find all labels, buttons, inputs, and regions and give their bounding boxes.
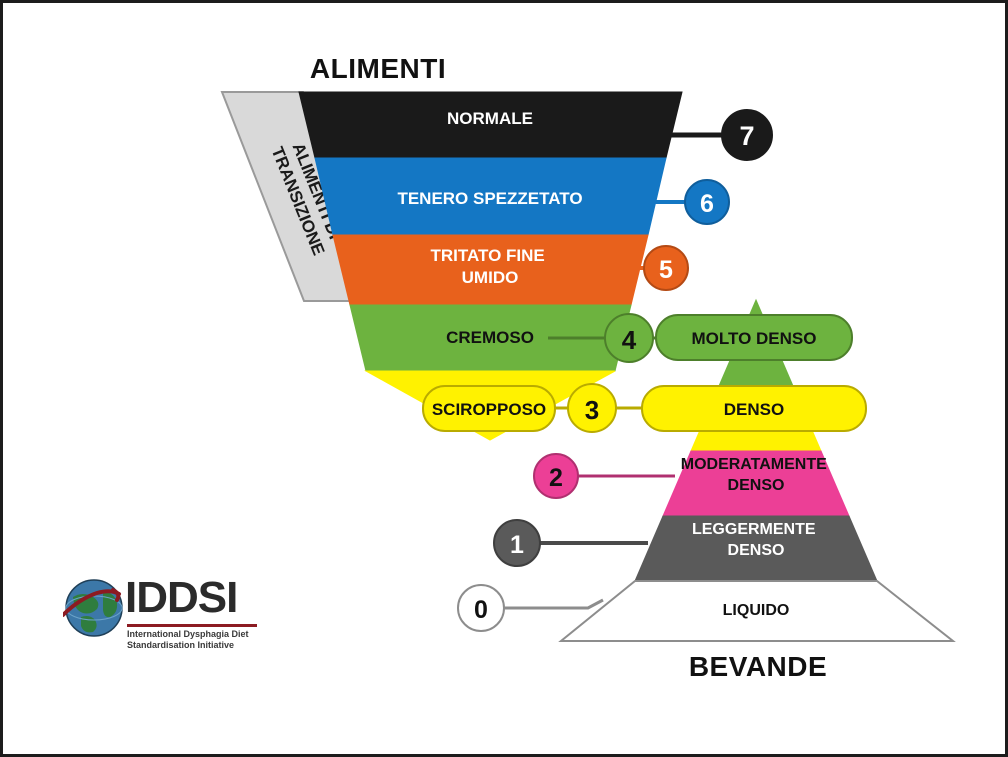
badge-level-5-number: 5 [659,256,673,284]
logo-tagline-line1: International Dysphagia Diet [127,629,277,640]
food-level-5-label-line2: UMIDO [462,268,519,287]
logo-divider [127,624,257,627]
badge-level-3[interactable]: 3 [568,384,616,432]
drink-level-3-label: DENSO [724,400,784,419]
badge-level-1-number: 1 [510,531,524,559]
badge-level-5[interactable]: 5 [644,246,688,290]
food-level-7-label: NORMALE [447,109,533,128]
iddsi-framework-diagram: ALIMENTI BEVANDE ALIMENTI DI TRANSIZIONE… [0,0,1008,757]
badge-level-0-number: 0 [474,596,488,624]
logo-wordmark: IDDSI [125,573,237,623]
badge-level-6-number: 6 [700,190,714,218]
food-level-6-label: TENERO SPEZZETATO [397,189,582,208]
badge-level-4[interactable]: 4 [605,314,653,362]
badge-level-1[interactable]: 1 [494,520,540,566]
logo-tagline-line2: Standardisation Initiative [127,640,277,651]
globe-icon [63,577,125,639]
drink-level-4-label: MOLTO DENSO [692,329,817,348]
badge-level-3-number: 3 [585,395,599,425]
badge-level-6[interactable]: 6 [685,180,729,224]
badge-level-7[interactable]: 7 [722,110,772,160]
badge-level-7-number: 7 [739,121,754,151]
logo-tagline: International Dysphagia Diet Standardisa… [127,629,277,651]
iddsi-logo: IDDSI International Dysphagia Diet Stand… [63,573,273,653]
badge-level-2[interactable]: 2 [534,454,578,498]
food-level-3-label: SCIROPPOSO [432,400,546,419]
badge-level-4-number: 4 [622,325,637,355]
food-pills: SCIROPPOSO [423,386,555,431]
food-level-5-label-line1: TRITATO FINE [430,246,544,265]
drink-level-0-label: LIQUIDO [723,602,790,619]
drink-level-2-label-line2: DENSO [728,477,785,494]
badge-level-0[interactable]: 0 [458,585,504,631]
badge-level-2-number: 2 [549,464,563,492]
food-level-4-label: CREMOSO [446,328,534,347]
connector-level-0 [493,600,603,608]
drink-level-1-label-line2: DENSO [728,542,785,559]
drink-level-2-label-line1: MODERATAMENTE [681,456,827,473]
drink-level-1-label-line1: LEGGERMENTE [692,521,816,538]
